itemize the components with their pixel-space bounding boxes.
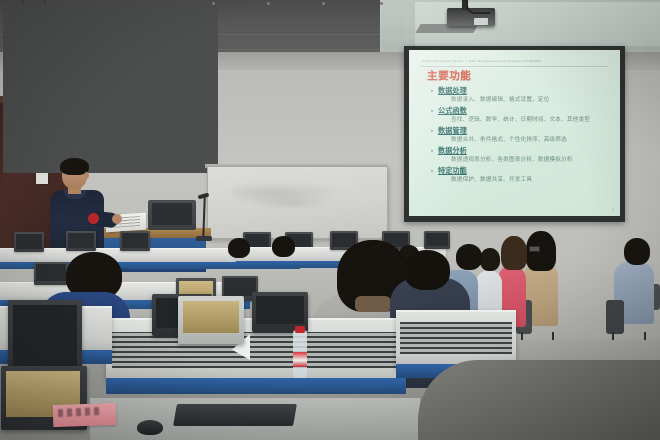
microphone-base <box>196 236 212 241</box>
desk-partition-panel <box>106 378 406 394</box>
water-bottle-label <box>293 352 307 367</box>
computer-monitor <box>120 231 150 251</box>
projector-lens <box>474 18 488 25</box>
computer-monitor <box>178 296 244 344</box>
eyeglasses <box>529 246 540 252</box>
slide-bullet-heading: 数据管理 <box>429 126 612 136</box>
projection-screen: Office Automation Series — Data Manageme… <box>409 50 620 216</box>
presenter-hand <box>112 214 122 224</box>
whiteboard-clip <box>212 2 215 5</box>
slide-bullet-sub: 查找、逻辑、数学、统计、日期时间、文本、其他类型 <box>429 116 612 125</box>
computer-monitor <box>66 231 96 251</box>
slide-bullet-group: 公式函数 查找、逻辑、数学、统计、日期时间、文本、其他类型 <box>429 106 612 125</box>
student-foreground-shoulder <box>418 360 660 440</box>
computer-monitor <box>34 262 68 285</box>
student-navy-head <box>404 250 450 290</box>
student-head <box>228 238 250 258</box>
slide-title: 主要功能 <box>427 68 471 83</box>
whiteboard-marks <box>250 196 330 210</box>
slide-bullet-sub: 数据合并、条件格式、个性化排序、高级筛选 <box>429 136 612 145</box>
computer-mouse <box>137 420 163 435</box>
podium-monitor-screen <box>152 203 192 225</box>
presenter-shirt-logo <box>88 213 99 224</box>
keyboard <box>173 404 297 426</box>
classroom-photo: Office Automation Series — Data Manageme… <box>0 0 660 440</box>
student-head <box>272 236 295 257</box>
slide-header-rule <box>421 66 609 67</box>
slide-bullet-heading: 数据分析 <box>429 146 612 156</box>
slide-body: 数据处理 数据录入、数据编辑、格式设置、定位 公式函数 查找、逻辑、数学、统计、… <box>429 86 612 186</box>
whiteboard-clip <box>322 2 325 5</box>
slide-bullet-sub: 数据录入、数据编辑、格式设置、定位 <box>429 96 612 105</box>
slide-bullet-group: 数据分析 数据透视表分析、各类图表分析、数据模拟分析 <box>429 146 612 165</box>
slide-bullet-group: 数据管理 数据合并、条件格式、个性化排序、高级筛选 <box>429 126 612 145</box>
slide-bullet-sub: 数据保护、数据共享、开发工具 <box>429 176 612 185</box>
slide-bullet-group: 数据处理 数据录入、数据编辑、格式设置、定位 <box>429 86 612 105</box>
whiteboard-clip <box>380 2 383 5</box>
student-neck <box>355 296 391 312</box>
slide-bullet-sub: 数据透视表分析、各类图表分析、数据模拟分析 <box>429 156 612 165</box>
slide-bullet-heading: 特定功能 <box>429 166 612 176</box>
slide-bullet-heading: 数据处理 <box>429 86 612 96</box>
slide-bullet-group: 特定功能 数据保护、数据共享、开发工具 <box>429 166 612 185</box>
attendee-hair <box>501 236 527 270</box>
computer-monitor <box>424 231 450 249</box>
slide-bullet-heading: 公式函数 <box>429 106 612 116</box>
attendee-head <box>480 248 500 271</box>
attendee-head <box>624 238 650 265</box>
projector-cable <box>466 0 490 14</box>
whiteboard-clip <box>267 2 270 5</box>
attendee-head <box>456 244 482 270</box>
presenter-ear <box>84 172 89 179</box>
computer-monitor <box>14 232 44 252</box>
projection-screen-bezel <box>3 3 218 173</box>
slide-page-number: 5 <box>612 208 614 212</box>
desk-partition-vent <box>112 332 398 368</box>
chair-back <box>606 300 624 334</box>
slide-header: Office Automation Series — Data Manageme… <box>422 59 612 63</box>
desk-partition-vent <box>400 322 512 354</box>
water-bottle-cap <box>295 326 305 333</box>
